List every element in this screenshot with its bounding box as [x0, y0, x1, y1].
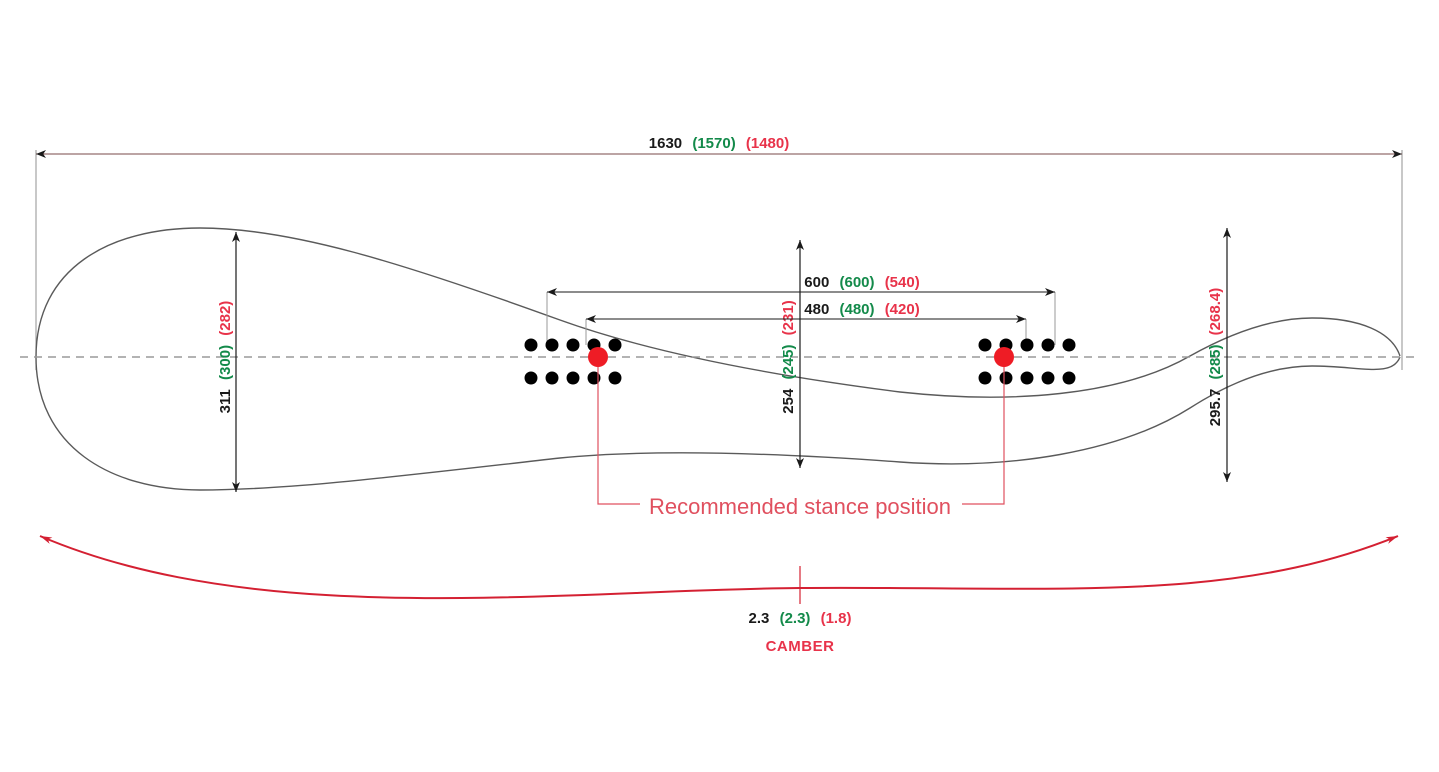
snowboard-technical-drawing: 1630 (1570) (1480) 311 (300) (282) 254 (… — [0, 0, 1439, 772]
drawing-canvas: 1630 (1570) (1480) 311 (300) (282) 254 (… — [0, 0, 1439, 772]
stance-wide-alt2: (540) — [885, 274, 920, 291]
camber-alt2: (1.8) — [821, 610, 852, 627]
insert-hole — [1042, 372, 1055, 385]
stance-width-wide-text: 600 (600) (540) — [804, 274, 919, 291]
stance-wide-primary: 600 — [804, 274, 829, 291]
insert-hole — [525, 372, 538, 385]
insert-hole — [567, 339, 580, 352]
stance-position-label: Recommended stance position — [649, 494, 951, 519]
stance-narrow-alt1: (480) — [839, 301, 874, 318]
insert-hole — [1021, 339, 1034, 352]
nose-width-primary: 311 — [217, 389, 234, 413]
nose-width-alt2: (282) — [217, 301, 234, 336]
stance-narrow-primary: 480 — [804, 301, 829, 318]
stance-wide-alt1: (600) — [839, 274, 874, 291]
stance-width-narrow-text: 480 (480) (420) — [804, 301, 919, 318]
overall-length-text: 1630 (1570) (1480) — [649, 135, 789, 152]
insert-hole — [546, 372, 559, 385]
tail-width-text: 295.7 (285) (268.4) — [1207, 288, 1224, 426]
overall-length-alt2: (1480) — [746, 135, 789, 152]
tail-width-primary: 295.7 — [1207, 389, 1224, 427]
overall-length-primary: 1630 — [649, 135, 682, 152]
insert-hole — [546, 339, 559, 352]
insert-hole — [1000, 372, 1013, 385]
right-insert-pack — [979, 339, 1076, 385]
insert-hole — [1042, 339, 1055, 352]
stance-width-narrow-dimension — [586, 319, 1026, 345]
insert-hole — [609, 339, 622, 352]
overall-length-alt1: (1570) — [692, 135, 735, 152]
tail-width-alt2: (268.4) — [1207, 288, 1224, 336]
waist-width-alt2: (231) — [780, 300, 797, 335]
stance-marker-left[interactable] — [588, 347, 608, 367]
camber-label: CAMBER — [766, 638, 835, 655]
insert-hole — [1063, 339, 1076, 352]
insert-hole — [567, 372, 580, 385]
insert-hole — [525, 339, 538, 352]
nose-width-text: 311 (300) (282) — [217, 301, 234, 414]
camber-arc — [40, 536, 1398, 598]
left-insert-pack — [525, 339, 622, 385]
overall-length-extension-lines — [36, 150, 1402, 370]
stance-leader-lines — [598, 362, 1004, 504]
insert-hole — [1021, 372, 1034, 385]
insert-hole — [979, 339, 992, 352]
tail-width-alt1: (285) — [1207, 344, 1224, 379]
insert-hole — [609, 372, 622, 385]
camber-primary: 2.3 — [749, 610, 770, 627]
waist-width-text: 254 (245) (231) — [780, 300, 797, 413]
waist-width-alt1: (245) — [780, 344, 797, 379]
waist-width-primary: 254 — [780, 388, 797, 414]
camber-alt1: (2.3) — [780, 610, 811, 627]
stance-narrow-alt2: (420) — [885, 301, 920, 318]
camber-height-text: 2.3 (2.3) (1.8) — [749, 610, 852, 627]
nose-width-alt1: (300) — [217, 345, 234, 380]
insert-hole — [1063, 372, 1076, 385]
board-outline — [36, 228, 1400, 490]
stance-marker-right[interactable] — [994, 347, 1014, 367]
insert-hole — [979, 372, 992, 385]
